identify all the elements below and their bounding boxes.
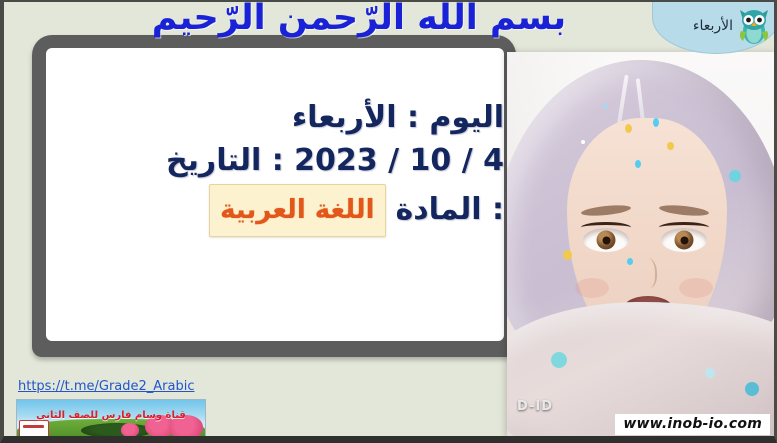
glitter-dot [603,104,608,109]
banner-caption: قناة وسام فارس للصف الثاني [17,410,205,421]
banner-pond [81,423,153,438]
subject-label: : المادة [396,189,504,232]
glitter-dot [625,124,632,133]
iris [597,231,616,250]
weekday-label: الأربعاء [693,18,733,34]
telegram-channel-link[interactable]: https://t.me/Grade2_Arabic [18,379,195,394]
lesson-info-block: اليوم : الأربعاء 4 / 10 / 2023 : التاريخ… [4,97,516,237]
cheek [679,278,713,298]
slide-canvas: بسم الله الرّحمن الرّحيم اليوم : الأربعا… [0,0,777,443]
nose [639,258,657,288]
subject-line: : المادة اللغة العربية [4,184,504,237]
date-line: 4 / 10 / 2023 : التاريخ [4,140,504,183]
glitter-dot [635,160,641,168]
avatar-video-overlay[interactable]: D-ID [507,52,775,438]
iris [675,231,694,250]
glitter-dot [745,382,759,396]
channel-banner-image[interactable]: قناة وسام فارس للصف الثاني [16,399,206,440]
banner-badge [19,420,49,438]
glitter-dot [551,352,567,368]
eyebrow [581,203,632,217]
glitter-dot [563,250,572,260]
weekday-owl-badge: الأربعاء [652,0,777,54]
glitter-dot [705,368,715,378]
banner-flower [121,423,139,437]
pupil [680,236,688,244]
glitter-dot [667,142,674,150]
eye [661,228,707,252]
eye [583,228,629,252]
did-watermark: D-ID [517,399,553,414]
glitter-dot [653,118,659,127]
eyebrow [659,203,710,217]
subject-value: اللغة العربية [220,195,374,225]
pupil [602,236,610,244]
cheek [575,278,609,298]
owl-icon [737,7,771,45]
glitter-dot [729,170,741,182]
glitter-dot [581,140,585,144]
glitter-dot [627,258,633,265]
day-line: اليوم : الأربعاء [4,97,504,140]
subject-calligraphy-box: اللغة العربية [209,184,385,237]
site-watermark: www.inob-io.com [615,414,770,435]
